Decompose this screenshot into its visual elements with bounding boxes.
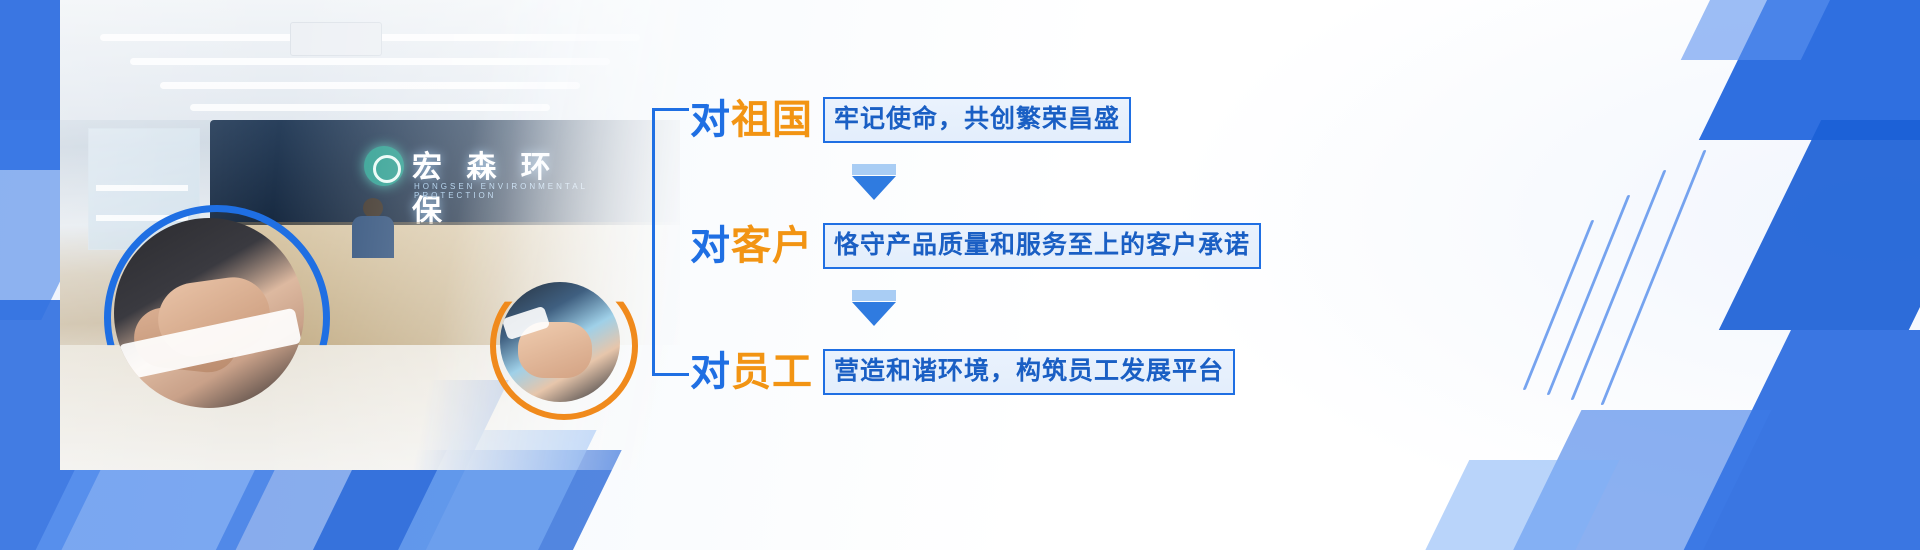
slogan-keyword-2: 对 客户 (690, 223, 813, 269)
slogan-description-3: 营造和谐环境，构筑员工发展平台 (823, 349, 1235, 395)
slogan-description-2: 恪守产品质量和服务至上的客户承诺 (823, 223, 1261, 269)
slogan-prefix-3: 对 (690, 349, 731, 395)
slogan-row-1: 对 祖国 牢记使命，共创繁荣昌盛 (690, 94, 1131, 146)
banner-stage: 宏 森 环 保 HONGSEN ENVIRONMENTAL PROTECTION (0, 0, 1920, 550)
slogan-target-2: 客户 (731, 223, 813, 269)
slogan-prefix-1: 对 (690, 97, 731, 143)
down-arrow-icon-2 (852, 290, 896, 324)
down-arrow-icon-1 (852, 164, 896, 198)
slogan-prefix-2: 对 (690, 223, 731, 269)
slogan-keyword-1: 对 祖国 (690, 97, 813, 143)
slogan-target-3: 员工 (731, 349, 813, 395)
slogan-block: 对 祖国 牢记使命，共创繁荣昌盛 对 客户 恪守产品质量和服务至上的客户承诺 对… (652, 78, 1352, 398)
slogan-row-2: 对 客户 恪守产品质量和服务至上的客户承诺 (690, 220, 1261, 272)
slogan-keyword-3: 对 员工 (690, 349, 813, 395)
bracket-connector (652, 108, 689, 376)
slogan-target-1: 祖国 (731, 97, 813, 143)
slogan-row-3: 对 员工 营造和谐环境，构筑员工发展平台 (690, 346, 1235, 398)
slogan-description-1: 牢记使命，共创繁荣昌盛 (823, 97, 1131, 143)
